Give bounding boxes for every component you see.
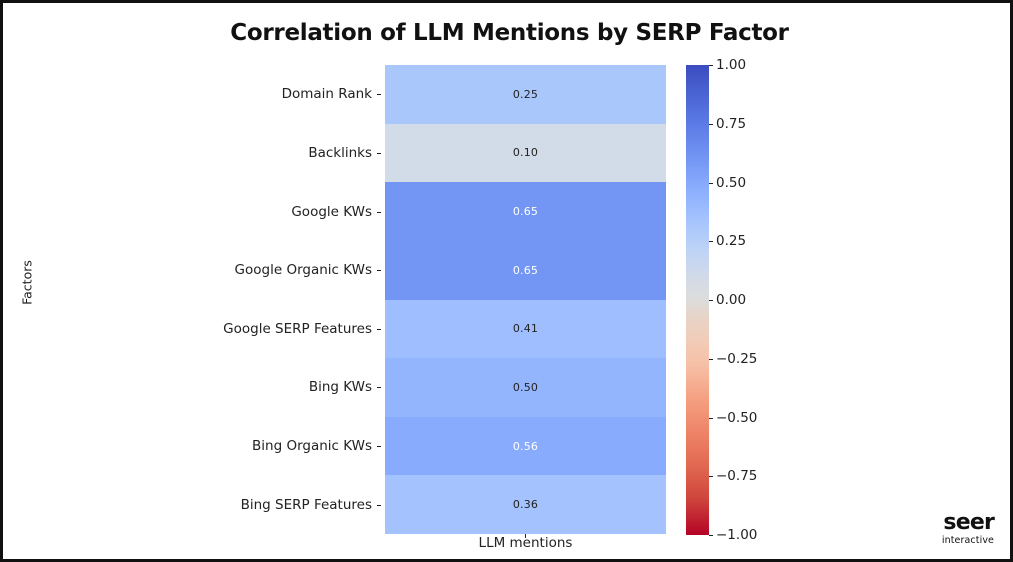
colorbar-tick-mark	[709, 535, 713, 536]
colorbar-tick-label: −0.25	[716, 351, 757, 367]
colorbar-tick-label: 0.75	[716, 116, 746, 132]
y-axis-tick-label: Google Organic KWs	[235, 241, 372, 300]
y-axis-tick-label: Google KWs	[291, 182, 372, 241]
brand-logo-name: seer	[942, 512, 994, 534]
heatmap-cell-value: 0.56	[513, 440, 538, 453]
colorbar-tick-mark	[709, 300, 713, 301]
colorbar-tick-mark	[709, 476, 713, 477]
colorbar-tick-label: 0.50	[716, 175, 746, 191]
heatmap-cell-value: 0.50	[513, 381, 538, 394]
colorbar-tick-mark	[709, 418, 713, 419]
y-axis-tick-label: Google SERP Features	[223, 300, 372, 359]
colorbar-tick-label: 1.00	[716, 57, 746, 73]
page-title: Correlation of LLM Mentions by SERP Fact…	[3, 20, 1013, 46]
heatmap-cell: 0.25	[385, 65, 666, 124]
colorbar-tick-mark	[709, 183, 713, 184]
y-axis-tick-mark	[377, 94, 381, 95]
y-axis-tick-label: Bing SERP Features	[241, 475, 372, 534]
colorbar-tick-label: −1.00	[716, 527, 757, 543]
y-axis-tick-mark	[377, 505, 381, 506]
colorbar-tick-mark	[709, 359, 713, 360]
y-axis-tick-label: Bing KWs	[309, 358, 372, 417]
y-axis-tick-label: Backlinks	[308, 124, 372, 183]
colorbar-gradient	[686, 65, 709, 535]
y-axis-tick-mark	[377, 270, 381, 271]
y-axis-tick-mark	[377, 212, 381, 213]
y-axis-tick-mark	[377, 153, 381, 154]
heatmap-cell: 0.10	[385, 124, 666, 183]
brand-logo: seer interactive	[942, 512, 994, 546]
heatmap-plot: 0.250.100.650.650.410.500.560.36	[385, 65, 666, 534]
heatmap-cell: 0.56	[385, 417, 666, 476]
colorbar-tick-mark	[709, 241, 713, 242]
heatmap-cell: 0.65	[385, 241, 666, 300]
heatmap-cell: 0.65	[385, 182, 666, 241]
y-axis-tick-mark	[377, 446, 381, 447]
colorbar-tick-mark	[709, 65, 713, 66]
heatmap-cell-value: 0.25	[513, 88, 538, 101]
heatmap-cell: 0.41	[385, 300, 666, 359]
heatmap-cell-value: 0.65	[513, 205, 538, 218]
heatmap-cell-value: 0.65	[513, 264, 538, 277]
y-axis-tick-mark	[377, 329, 381, 330]
heatmap-cell-value: 0.36	[513, 498, 538, 511]
slide-canvas: Correlation of LLM Mentions by SERP Fact…	[0, 0, 1013, 562]
colorbar-tick-mark	[709, 124, 713, 125]
colorbar-tick-label: 0.00	[716, 292, 746, 308]
colorbar-tick-label: −0.75	[716, 468, 757, 484]
x-axis-label: LLM mentions	[385, 535, 666, 551]
colorbar-tick-label: −0.50	[716, 410, 757, 426]
heatmap-cell-value: 0.41	[513, 322, 538, 335]
heatmap-cell: 0.50	[385, 358, 666, 417]
heatmap-cell: 0.36	[385, 475, 666, 534]
colorbar: 1.000.750.500.250.00−0.25−0.50−0.75−1.00	[686, 65, 709, 535]
colorbar-tick-label: 0.25	[716, 233, 746, 249]
y-axis-tick-label: Bing Organic KWs	[252, 417, 372, 476]
brand-logo-tagline: interactive	[942, 536, 994, 546]
heatmap-cell-value: 0.10	[513, 146, 538, 159]
y-axis-tick-labels: Domain RankBacklinksGoogle KWsGoogle Org…	[3, 65, 381, 534]
y-axis-tick-mark	[377, 387, 381, 388]
y-axis-tick-label: Domain Rank	[282, 65, 372, 124]
